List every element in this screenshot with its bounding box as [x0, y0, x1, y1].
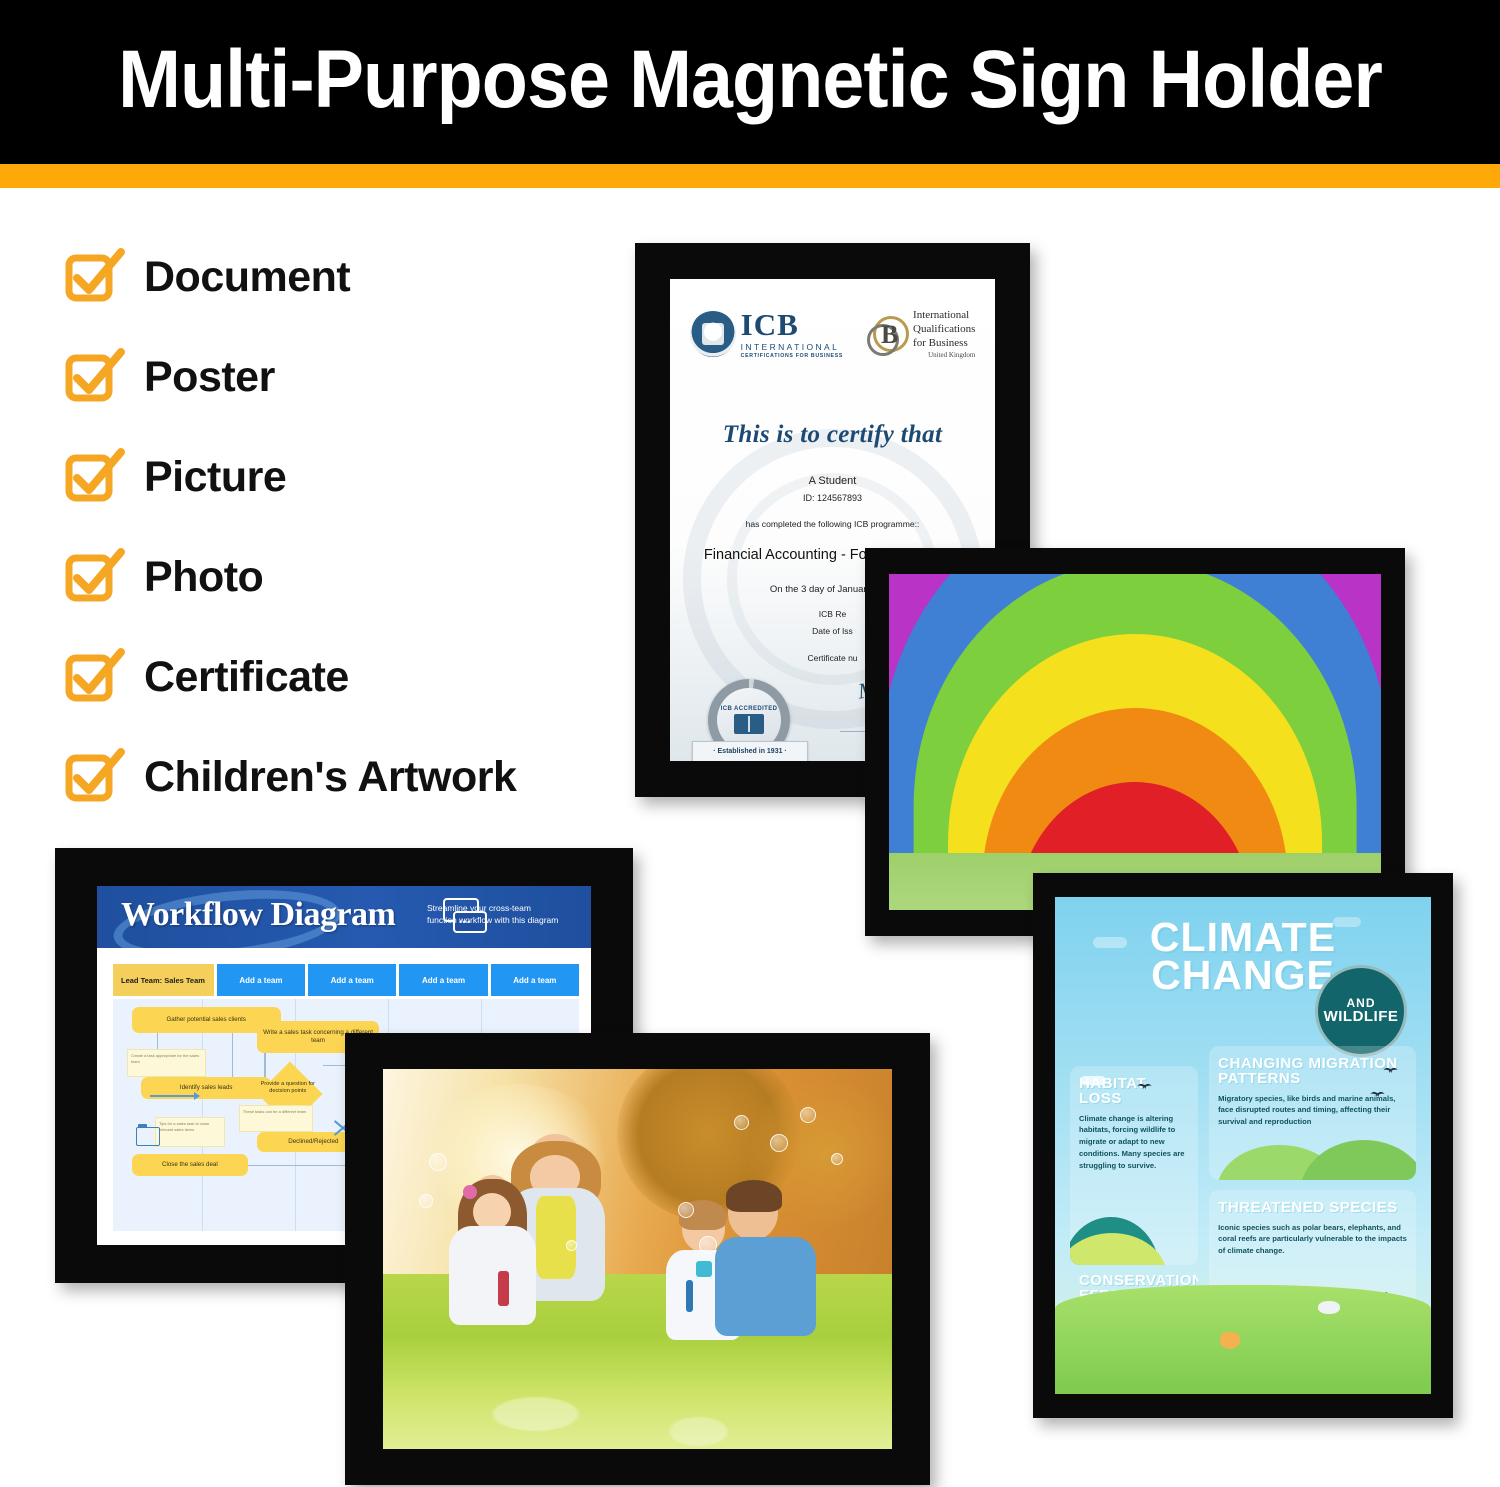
checklist-item: Picture — [68, 440, 608, 515]
student-name: A Student — [670, 475, 995, 487]
badge-ribbon: · Established in 1931 · — [692, 741, 808, 761]
tagline-line-2: function workflow with this diagram — [427, 914, 577, 926]
icb-logo: ICB INTERNATIONAL CERTIFICATIONS FOR BUS… — [690, 309, 843, 359]
iqb-line-2: Qualifications — [913, 323, 975, 337]
sticky-note: These tasks can be a different team — [239, 1105, 314, 1132]
column-header: Add a team — [308, 964, 396, 996]
certify-headline: This is to certify that — [670, 421, 995, 449]
checklist-item-label: Document — [144, 253, 350, 302]
column-header-lead: Lead Team: Sales Team — [113, 964, 214, 996]
checklist-item-label: Children's Artwork — [144, 753, 516, 802]
checklist-item-label: Certificate — [144, 653, 349, 702]
badge-text: ICB ACCREDITED — [721, 706, 778, 712]
workflow-tagline: Streamline your cross-team function work… — [427, 902, 577, 927]
panel-body: Climate change is altering habitats, for… — [1079, 1113, 1189, 1172]
completion-line: has completed the following ICB programm… — [670, 519, 995, 529]
checklist-item-label: Poster — [144, 353, 275, 402]
cloud-decoration — [1080, 1076, 1106, 1085]
iqb-line-1: International — [913, 309, 975, 323]
soap-bubble — [699, 1236, 717, 1254]
column-header: Add a team — [399, 964, 487, 996]
icb-subtitle: INTERNATIONAL — [741, 343, 843, 352]
checklist-item-label: Picture — [144, 453, 286, 502]
panel-heading: CHANGING MIGRATION PATTERNS — [1218, 1056, 1407, 1087]
folder-icon — [136, 1127, 160, 1146]
sticky-note: Create a task appropriate for the sales … — [127, 1049, 206, 1077]
hill-shape — [1300, 1140, 1416, 1180]
icb-wordmark: ICB — [741, 309, 843, 340]
iqb-line-3: for Business — [913, 337, 975, 351]
checklist-item: Certificate — [68, 640, 608, 715]
checklist-item: Poster — [68, 340, 608, 415]
checklist-item: Photo — [68, 540, 608, 615]
checklist-item-label: Photo — [144, 553, 263, 602]
checkbox-checked-icon — [68, 454, 116, 502]
certificate-logos: ICB INTERNATIONAL CERTIFICATIONS FOR BUS… — [670, 309, 995, 359]
figure-daughter — [449, 1175, 536, 1335]
checkbox-checked-icon — [68, 254, 116, 302]
soap-bubble — [429, 1153, 447, 1171]
climate-poster: CLIMATE CHANGE AND WILDLIFE HABITAT LOSS… — [1055, 897, 1431, 1394]
photo-frame — [345, 1033, 930, 1485]
bird-icon — [1137, 1084, 1153, 1092]
family-photo — [383, 1069, 892, 1449]
checkbox-checked-icon — [68, 654, 116, 702]
workflow-title: Workflow Diagram — [121, 896, 395, 934]
wildlife-badge: AND WILDLIFE — [1315, 965, 1407, 1057]
poster-frame: CLIMATE CHANGE AND WILDLIFE HABITAT LOSS… — [1033, 873, 1453, 1418]
tagline-line-1: Streamline your cross-team — [427, 902, 577, 914]
decision-label: Provide a question for decision points — [253, 1081, 323, 1096]
soap-bubble — [770, 1134, 788, 1152]
page-title: Multi-Purpose Magnetic Sign Holder — [60, 30, 1440, 130]
column-header: Add a team — [491, 964, 579, 996]
flow-node: Close the sales deal — [132, 1154, 249, 1176]
student-id: ID: 124567893 — [670, 493, 995, 503]
panel-body: Iconic species such as polar bears, elep… — [1218, 1222, 1407, 1257]
panel-heading: THREATENED SPECIES — [1218, 1200, 1407, 1215]
iqb-mark-icon: B — [865, 312, 909, 356]
sticky-note: Tips for a sales task to close relevant … — [155, 1117, 225, 1147]
bird-icon — [1370, 1092, 1392, 1100]
feature-checklist: Document Poster Picture Photo Certificat… — [68, 240, 608, 840]
iqb-logo: B International Qualifications for Busin… — [865, 309, 975, 359]
emphasis-arrow — [150, 1095, 196, 1097]
workflow-header: Workflow Diagram ••• Streamline your cro… — [97, 886, 591, 948]
iqb-country: United Kingdom — [913, 351, 975, 359]
icb-rosette-icon — [690, 311, 736, 357]
icb-tagline: CERTIFICATIONS FOR BUSINESS — [741, 354, 843, 359]
figure-father — [704, 1183, 816, 1343]
soap-bubble — [419, 1194, 433, 1208]
badge-line-2: WILDLIFE — [1324, 1009, 1399, 1025]
column-header: Add a team — [217, 964, 305, 996]
bird-icon — [1383, 1068, 1399, 1076]
soap-bubble — [831, 1153, 843, 1165]
poster-foreground-hill — [1055, 1285, 1431, 1394]
checkbox-checked-icon — [68, 754, 116, 802]
checkbox-checked-icon — [68, 354, 116, 402]
checklist-item: Document — [68, 240, 608, 315]
soap-bubble — [734, 1115, 749, 1130]
panel-migration: CHANGING MIGRATION PATTERNS Migratory sp… — [1209, 1046, 1416, 1180]
checklist-item: Children's Artwork — [68, 740, 608, 815]
hill-shape — [1070, 1233, 1167, 1265]
checkbox-checked-icon — [68, 554, 116, 602]
header-accent-stripe — [0, 164, 1500, 188]
workflow-column-headers: Lead Team: Sales Team Add a team Add a t… — [113, 964, 579, 996]
panel-habitat-loss: HABITAT LOSS Climate change is altering … — [1070, 1066, 1198, 1265]
rainbow-painting — [889, 574, 1381, 910]
